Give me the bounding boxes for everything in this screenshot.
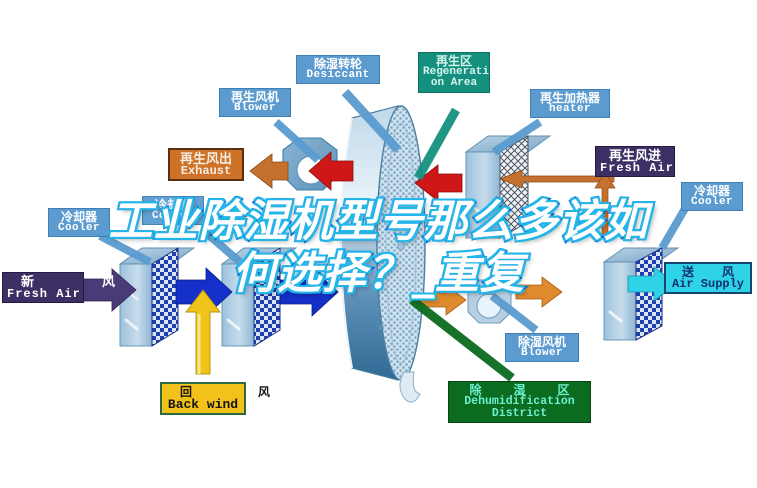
- desiccant-wheel: xt: [341, 106, 425, 380]
- label-desiccant-en: Desiccant: [301, 70, 375, 81]
- label-exhaust-en: Exhaust: [174, 165, 238, 177]
- label-fresh-air-en: Fresh Air: [7, 288, 79, 300]
- label-regen-area[interactable]: 再生区 Regenerati on Area: [418, 52, 490, 93]
- label-regen-heater[interactable]: 再生加热器 heater: [530, 89, 610, 118]
- label-dehum-district[interactable]: 除 湿 区 Dehumidification District: [448, 381, 591, 423]
- dry-air-arrow-2: [516, 277, 562, 307]
- exhaust-arrow: [250, 154, 288, 188]
- label-regen-fresh-air-en: Fresh Air: [600, 162, 670, 174]
- process-arrow-2: [280, 268, 338, 316]
- label-regen-area-en2: on Area: [423, 78, 485, 89]
- label-exhaust[interactable]: 再生风出 Exhaust: [168, 148, 244, 181]
- label-cooler-right[interactable]: 冷却器 Cooler: [681, 182, 743, 211]
- label-cooler-mid-en: Cooler: [147, 211, 199, 222]
- label-air-supply-en: Air Supply: [670, 278, 746, 290]
- label-back-wind-en: Back wind: [166, 398, 240, 411]
- label-exhaust-cn: 再生风出: [174, 152, 238, 165]
- label-back-wind[interactable]: 回 风 Back wind: [160, 382, 246, 415]
- label-fresh-air-cn: 新 风: [7, 275, 79, 288]
- label-dehum-district-en2: District: [453, 408, 586, 420]
- label-cooler-mid[interactable]: 冷却器 Cooler: [142, 196, 204, 225]
- label-regen-heater-en: heater: [535, 104, 605, 115]
- heater-coil: [466, 136, 550, 238]
- diagram-canvas: xt: [0, 0, 757, 488]
- label-desiccant[interactable]: 除湿转轮 Desiccant: [296, 55, 380, 84]
- label-cooler-left[interactable]: 冷却器 Cooler: [48, 208, 110, 237]
- label-regen-fresh-air-cn: 再生风进: [600, 149, 670, 162]
- label-air-supply[interactable]: 送 风 Air Supply: [664, 262, 752, 294]
- label-dehum-blower[interactable]: 除湿风机 Blower: [505, 333, 579, 362]
- label-cooler-right-en: Cooler: [686, 197, 738, 208]
- label-fresh-air[interactable]: 新 风 Fresh Air: [2, 272, 84, 303]
- label-regen-fresh-air[interactable]: 再生风进 Fresh Air: [595, 146, 675, 177]
- svg-text:xt: xt: [378, 322, 386, 332]
- label-cooler-left-en: Cooler: [53, 223, 105, 234]
- label-regen-blower[interactable]: 再生风机 Blower: [219, 88, 291, 117]
- drain-pan: [400, 372, 420, 402]
- cooler-coil-right: [560, 250, 578, 262]
- label-dehum-blower-en: Blower: [510, 348, 574, 359]
- label-regen-blower-en: Blower: [224, 103, 286, 114]
